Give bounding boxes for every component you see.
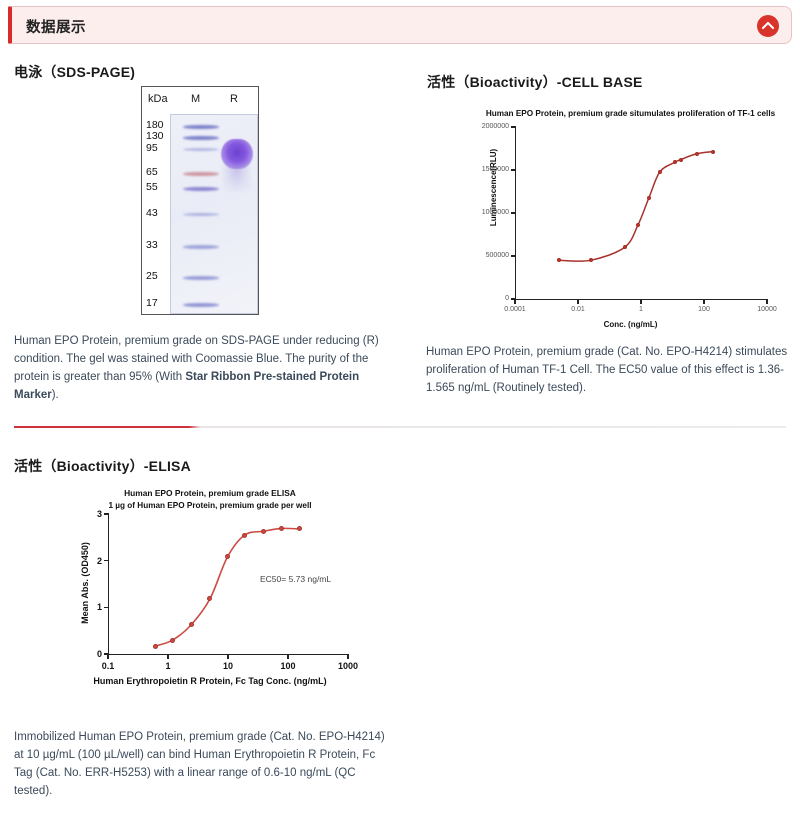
caption-cell-base: Human EPO Protein, premium grade (Cat. N… [426,343,788,397]
gel-mw-label-25: 25 [146,271,158,282]
marker-band-43kda [183,213,219,216]
elisa-x-axis-label: Human Erythropoietin R Protein, Fc Tag C… [54,676,366,686]
marker-band-130kda [183,136,219,140]
data-point-3 [636,223,640,227]
data-point-2 [623,245,627,249]
chevron-up-icon [757,15,779,37]
elisa-chart: Human EPO Protein, premium grade ELISA 1… [60,486,360,701]
data-point-2 [189,622,194,627]
data-point-5 [658,170,662,174]
gel-column-r: R [230,93,238,105]
data-point-6 [261,529,266,534]
gel-mw-label-95: 95 [146,143,158,154]
section-title-elisa: 活性（Bioactivity）-ELISA [14,456,191,476]
gel-mw-label-55: 55 [146,182,158,193]
data-point-8 [695,152,699,156]
section-divider [14,426,786,428]
data-point-1 [170,638,175,643]
data-point-0 [153,644,158,649]
gel-lane-header: kDa M R [142,87,258,113]
collapse-panel-button[interactable] [757,15,779,37]
page-title: 数据展示 [26,16,86,37]
cell-base-chart: Human EPO Protein, premium grade situmul… [473,105,788,335]
marker-band-65kda [183,172,219,176]
section-title-sds-page: 电泳（SDS-PAGE) [14,62,135,82]
sample-band-smear [223,165,250,191]
cell-base-curve-path [473,105,788,335]
gel-mw-label-130: 130 [146,131,164,142]
gel-column-kda: kDa [148,93,168,105]
gel-mw-label-43: 43 [146,208,158,219]
caption-sds-part3: ). [52,389,59,401]
data-point-5 [242,533,247,538]
marker-band-180kda [183,125,219,129]
marker-band-25kda [183,276,219,280]
data-point-4 [647,196,651,200]
gel-column-m: M [191,93,200,105]
section-title-cell-base: 活性（Bioactivity）-CELL BASE [427,72,643,92]
sds-page-gel-figure: kDa M R 18013095655543332517 [141,86,259,315]
data-point-7 [679,158,683,162]
caption-elisa: Immobilized Human EPO Protein, premium g… [14,728,388,800]
gel-mw-label-17: 17 [146,298,158,309]
marker-band-95kda [183,148,219,151]
gel-mw-label-33: 33 [146,240,158,251]
caption-sds-page: Human EPO Protein, premium grade on SDS-… [14,332,380,404]
marker-band-17kda [183,303,219,307]
marker-band-33kda [183,245,219,249]
data-point-1 [589,258,593,262]
marker-band-55kda [183,187,219,191]
cell-base-x-axis-label: Conc. (ng/mL) [473,320,788,329]
elisa-curve-path [60,486,360,701]
panel-header: 数据展示 [8,6,792,44]
gel-lane-area [170,114,258,314]
data-point-7 [279,526,284,531]
gel-mw-label-65: 65 [146,167,158,178]
